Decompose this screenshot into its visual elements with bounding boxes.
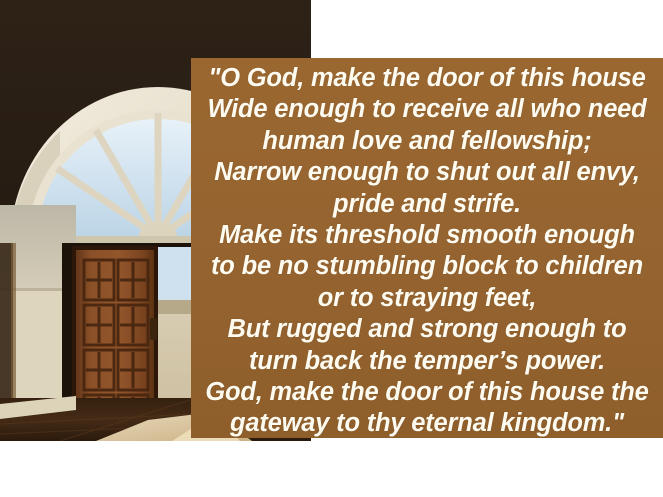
quote-line: "O God, make the door of this house <box>197 63 657 94</box>
quote-line: to be no stumbling block to children <box>197 251 657 282</box>
quote-line: Wide enough to receive all who need <box>197 94 657 125</box>
quote-panel: "O God, make the door of this house Wide… <box>191 58 663 438</box>
quote-line: But rugged and strong enough to <box>197 314 657 345</box>
quote-line: God, make the door of this house the <box>197 377 657 408</box>
quote-line: Narrow enough to shut out all envy, <box>197 157 657 188</box>
quote-line: gateway to thy eternal kingdom." <box>197 408 657 439</box>
quote-line: Make its threshold smooth enough <box>197 220 657 251</box>
slide-canvas: "O God, make the door of this house Wide… <box>0 0 663 497</box>
quote-line: human love and fellowship; <box>197 126 657 157</box>
quote-line: turn back the temper’s power. <box>197 346 657 377</box>
quote-line: pride and strife. <box>197 189 657 220</box>
quote-line: or to straying feet, <box>197 283 657 314</box>
prayer-quote-text: "O God, make the door of this house Wide… <box>197 63 657 440</box>
